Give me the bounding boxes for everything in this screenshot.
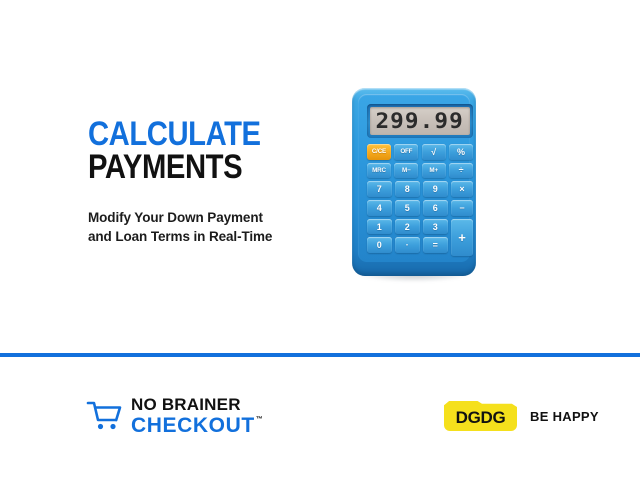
calculator-display: 299.99 <box>367 104 473 138</box>
calculator-illustration: 299.99 C/CE OFF √ % MRC M− M+ ÷ <box>352 88 476 282</box>
calculator-digit-row-4: 0 · = <box>367 237 448 253</box>
calculator-key-mrc[interactable]: MRC <box>367 163 391 179</box>
subheadline: Modify Your Down Payment and Loan Terms … <box>88 208 348 246</box>
calculator-digit-grid: 7 8 9 4 5 6 1 2 <box>367 181 448 256</box>
calculator-key-1[interactable]: 1 <box>367 219 392 235</box>
calculator-function-row-2: MRC M− M+ ÷ <box>367 163 473 179</box>
no-brainer-checkout-wordmark: NO BRAINER CHECKOUT ™ <box>131 396 263 436</box>
calculator-digit-row-1: 7 8 9 <box>367 181 448 197</box>
calculator-key-sqrt[interactable]: √ <box>422 144 446 160</box>
calculator-key-0[interactable]: 0 <box>367 237 392 253</box>
nbc-line-no-brainer: NO BRAINER <box>131 396 263 413</box>
calculator-display-value: 299.99 <box>376 109 464 133</box>
shopping-cart-icon <box>86 400 122 432</box>
nbc-line-checkout-wrap: CHECKOUT ™ <box>131 415 263 436</box>
calculator-body: 299.99 C/CE OFF √ % MRC M− M+ ÷ <box>352 88 476 276</box>
calculator-key-clear[interactable]: C/CE <box>367 144 391 160</box>
calculator-lower-keypad: 7 8 9 4 5 6 1 2 <box>367 181 473 256</box>
no-brainer-checkout-logo: NO BRAINER CHECKOUT ™ <box>86 396 263 436</box>
calculator-digit-row-3: 1 2 3 <box>367 219 448 235</box>
page-title: CALCULATE PAYMENTS <box>88 118 338 185</box>
dgdg-logo: DGDG BE HAPPY <box>444 401 599 431</box>
calculator-key-4[interactable]: 4 <box>367 200 392 216</box>
calculator-key-2[interactable]: 2 <box>395 219 420 235</box>
calculator-key-9[interactable]: 9 <box>423 181 448 197</box>
calculator-key-decimal[interactable]: · <box>395 237 420 253</box>
calculator-key-memory-plus[interactable]: M+ <box>422 163 446 179</box>
calculator-faceplate: 299.99 C/CE OFF √ % MRC M− M+ ÷ <box>358 94 470 262</box>
calculator-key-6[interactable]: 6 <box>423 200 448 216</box>
calculator-key-5[interactable]: 5 <box>395 200 420 216</box>
calculator-key-off[interactable]: OFF <box>394 144 418 160</box>
calculator-display-screen: 299.99 <box>370 107 470 135</box>
calculator-key-memory-minus[interactable]: M− <box>394 163 418 179</box>
headline-line-payments: PAYMENTS <box>88 151 303 184</box>
calculator-key-multiply[interactable]: × <box>451 181 473 197</box>
subheadline-line-1: Modify Your Down Payment <box>88 208 348 227</box>
calculator-operator-column: × − + <box>451 181 473 256</box>
calculator-keypad: C/CE OFF √ % MRC M− M+ ÷ <box>367 144 473 262</box>
calculator-function-row-1: C/CE OFF √ % <box>367 144 473 160</box>
trademark-symbol: ™ <box>256 416 263 423</box>
calculator-key-percent[interactable]: % <box>449 144 473 160</box>
calculator-key-plus[interactable]: + <box>451 219 473 256</box>
subheadline-line-2: and Loan Terms in Real-Time <box>88 227 348 246</box>
hero-section: CALCULATE PAYMENTS Modify Your Down Paym… <box>0 0 640 354</box>
calculator-digit-row-2: 4 5 6 <box>367 200 448 216</box>
headline-line-calculate: CALCULATE <box>88 118 303 151</box>
footer-section: NO BRAINER CHECKOUT ™ DGDG BE HAPPY <box>0 357 640 480</box>
dgdg-badge-text: DGDG <box>444 401 517 431</box>
dgdg-tagline: BE HAPPY <box>530 409 599 424</box>
calculator-key-8[interactable]: 8 <box>395 181 420 197</box>
dgdg-badge: DGDG <box>444 401 517 431</box>
calculator-key-minus[interactable]: − <box>451 200 473 216</box>
calculator-key-3[interactable]: 3 <box>423 219 448 235</box>
nbc-line-checkout: CHECKOUT <box>131 415 255 436</box>
calculator-key-divide[interactable]: ÷ <box>449 163 473 179</box>
calculator-key-equals[interactable]: = <box>423 237 448 253</box>
calculator-key-7[interactable]: 7 <box>367 181 392 197</box>
